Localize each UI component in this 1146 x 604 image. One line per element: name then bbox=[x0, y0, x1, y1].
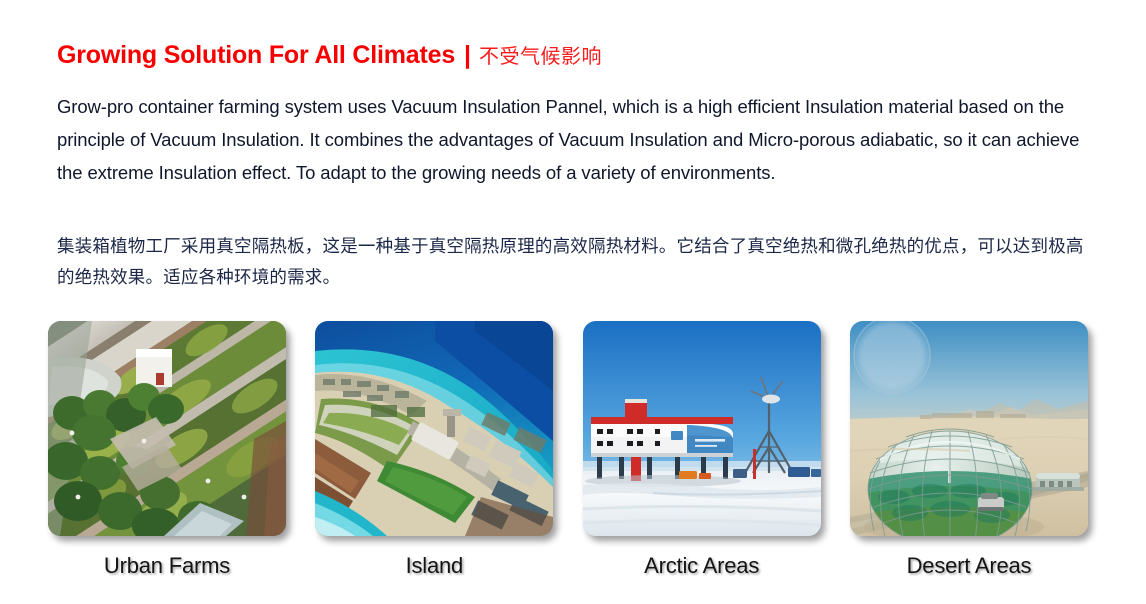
arctic-research-station-photo bbox=[583, 321, 821, 536]
body-paragraph-english: Grow-pro container farming system uses V… bbox=[57, 90, 1089, 189]
gallery-card-arctic-areas[interactable]: Arctic Areas bbox=[583, 321, 821, 579]
page-title-english: Growing Solution For All Climates bbox=[57, 41, 455, 70]
title-separator: | bbox=[464, 41, 471, 70]
slide-canvas: Growing Solution For All Climates | 不受气候… bbox=[0, 0, 1146, 604]
gallery-card-island[interactable]: Island bbox=[315, 321, 553, 579]
page-title: Growing Solution For All Climates | 不受气候… bbox=[57, 40, 602, 70]
card-caption: Desert Areas bbox=[850, 553, 1088, 579]
desert-biodome-render bbox=[850, 321, 1088, 536]
page-title-chinese: 不受气候影响 bbox=[479, 40, 602, 69]
urban-farm-aerial-photo bbox=[48, 321, 286, 536]
card-caption: Urban Farms bbox=[48, 553, 286, 579]
climate-image-gallery: Urban Farms bbox=[48, 321, 1088, 579]
island-aerial-photo bbox=[315, 321, 553, 536]
body-paragraph-chinese: 集装箱植物工厂采用真空隔热板，这是一种基于真空隔热原理的高效隔热材料。它结合了真… bbox=[57, 232, 1095, 294]
gallery-card-urban-farms[interactable]: Urban Farms bbox=[48, 321, 286, 579]
card-caption: Island bbox=[315, 553, 553, 579]
gallery-card-desert-areas[interactable]: Desert Areas bbox=[850, 321, 1088, 579]
card-caption: Arctic Areas bbox=[583, 553, 821, 579]
